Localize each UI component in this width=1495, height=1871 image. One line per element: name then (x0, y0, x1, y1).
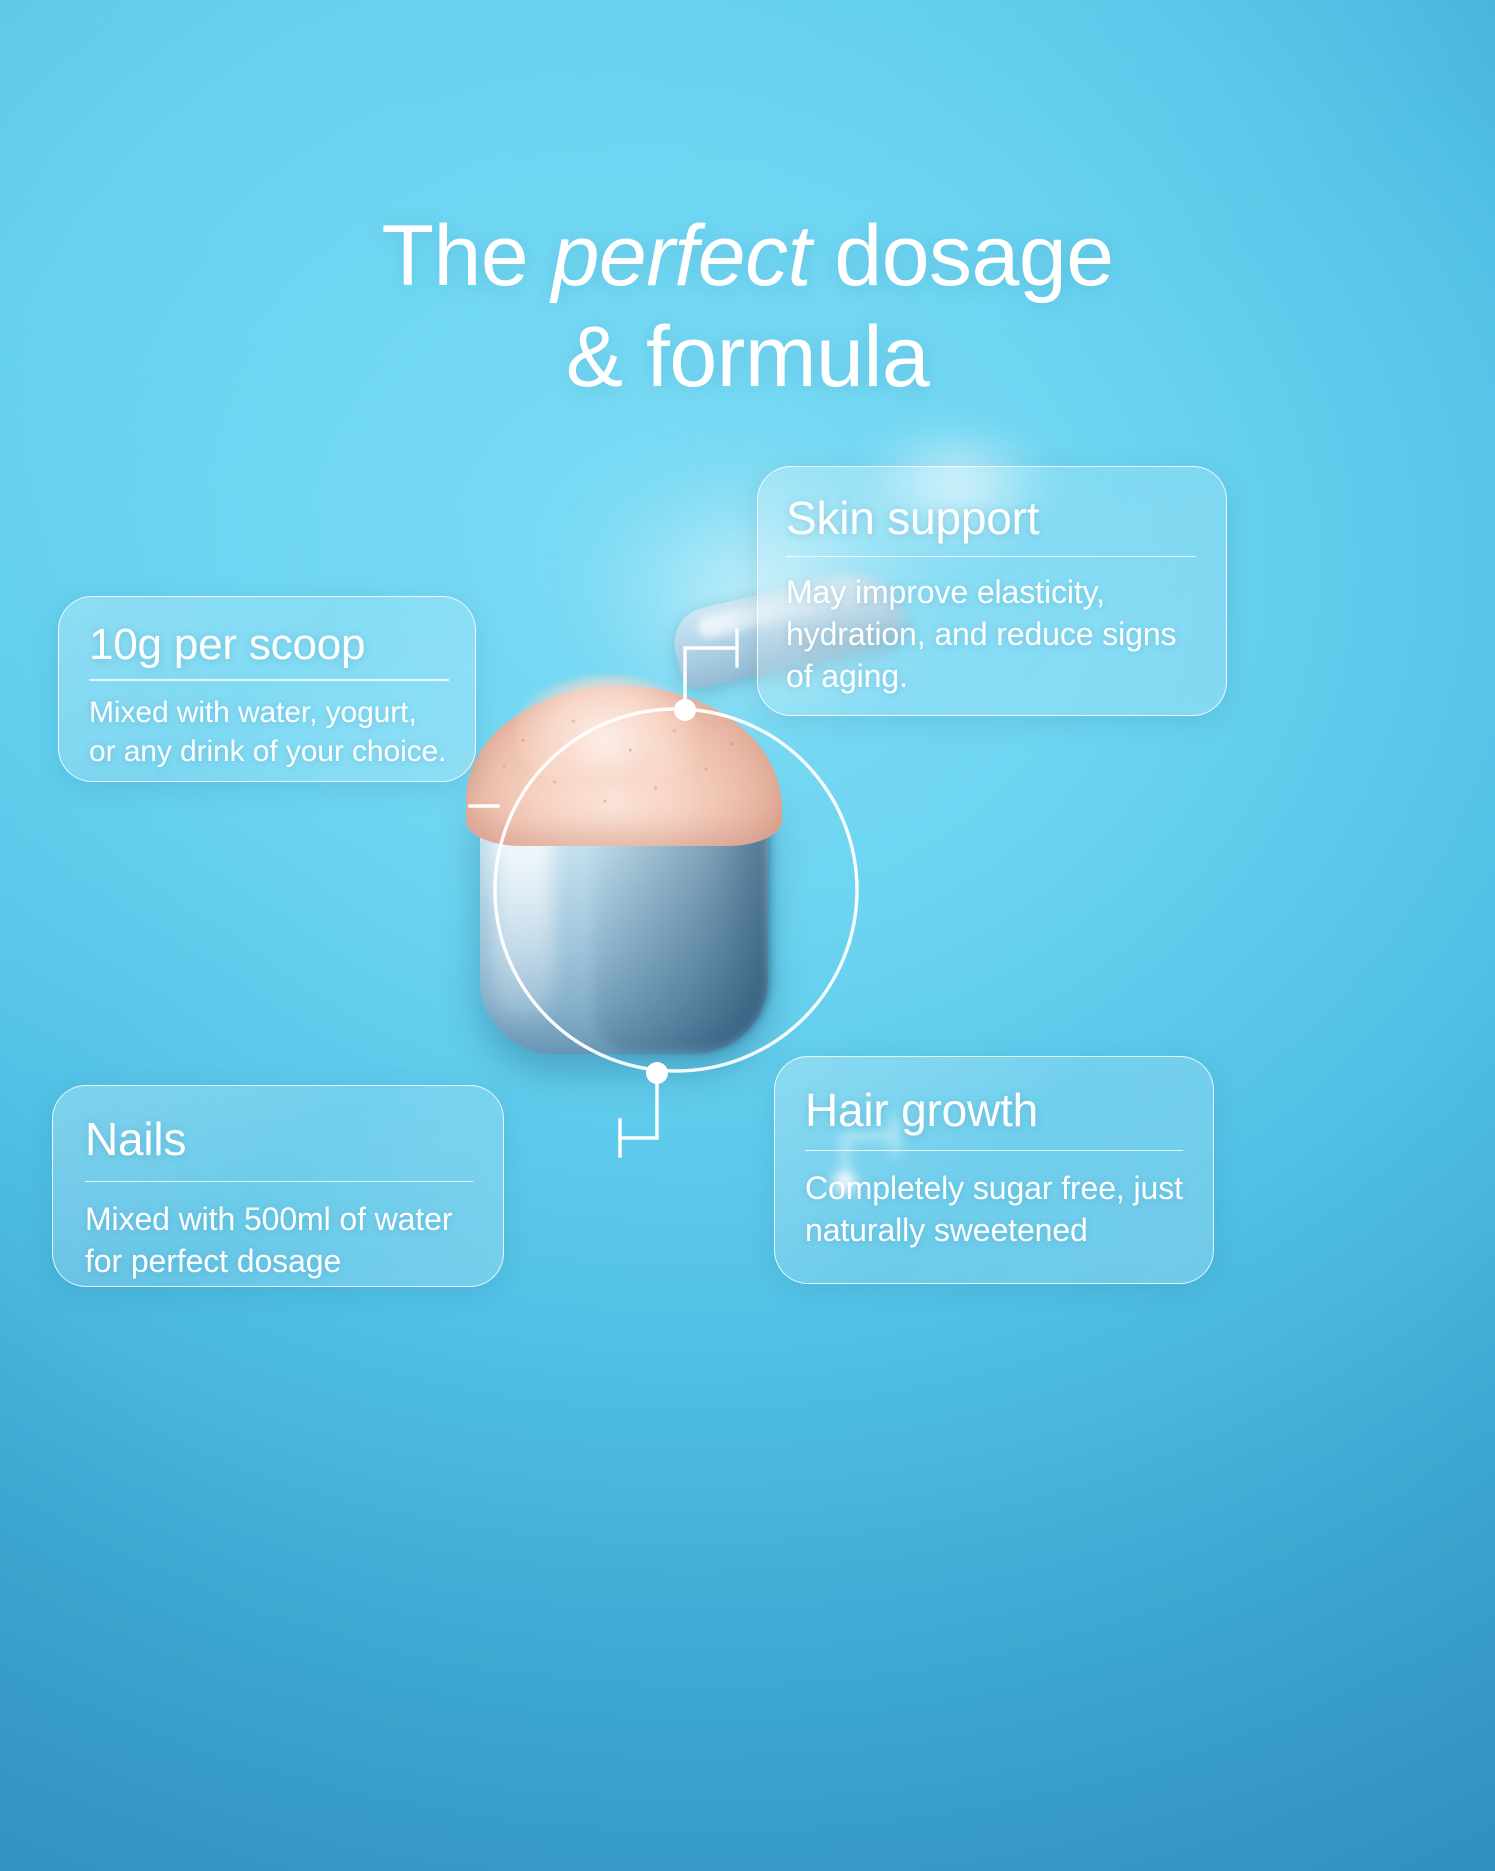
callout-title: 10g per scoop (89, 621, 449, 669)
callout-body: Mixed with water, yogurt, or any drink o… (89, 693, 449, 772)
headline-text-perfect: perfect (552, 208, 811, 304)
headline-text-the: The (381, 208, 551, 304)
callout-divider (805, 1150, 1183, 1151)
callout-card-skin-support[interactable]: Skin support May improve elasticity, hyd… (757, 466, 1227, 716)
callout-card-scoop[interactable]: 10g per scoop Mixed with water, yogurt, … (58, 596, 476, 782)
headline-line-2: & formula (0, 307, 1495, 408)
callout-body: Completely sugar free, just naturally sw… (805, 1167, 1183, 1251)
headline-text-dosage: dosage (811, 208, 1114, 304)
callout-divider (786, 556, 1196, 557)
callout-divider (85, 1181, 473, 1182)
callout-body: May improve elasticity, hydration, and r… (786, 571, 1196, 698)
callout-card-hair-growth[interactable]: Hair growth Completely sugar free, just … (774, 1056, 1214, 1284)
callout-title: Nails (85, 1114, 473, 1165)
page-title: The perfect dosage & formula (0, 206, 1495, 407)
callout-body: Mixed with 500ml of water for perfect do… (85, 1198, 473, 1282)
infographic-canvas: The perfect dosage & formula (0, 0, 1495, 1871)
headline-line-1: The perfect dosage (0, 206, 1495, 307)
callout-title: Hair growth (805, 1085, 1183, 1136)
callout-card-nails[interactable]: Nails Mixed with 500ml of water for perf… (52, 1085, 504, 1287)
callout-divider (89, 679, 449, 680)
callout-title: Skin support (786, 493, 1196, 544)
